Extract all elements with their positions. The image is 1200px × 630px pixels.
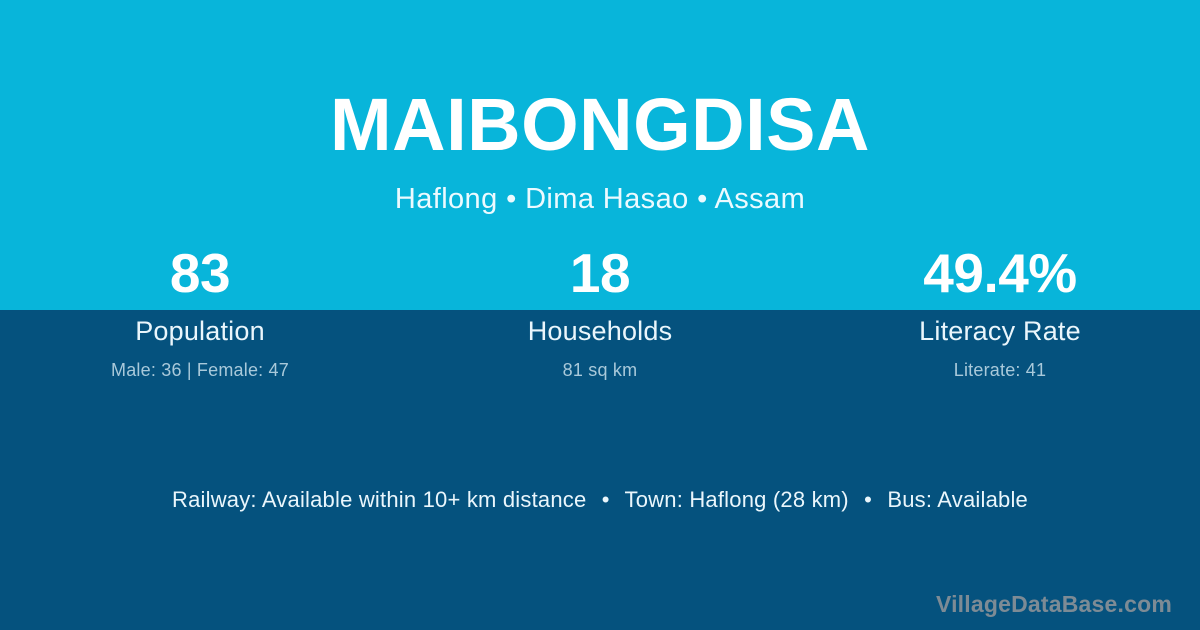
stat-literacy-rate: 49.4% Literacy Rate Literate: 41 bbox=[800, 240, 1200, 381]
info-bus: Bus: Available bbox=[887, 487, 1028, 512]
stat-households: 18 Households 81 sq km bbox=[400, 240, 800, 381]
stat-label: Literacy Rate bbox=[800, 315, 1200, 347]
stat-sublabel: Literate: 41 bbox=[800, 359, 1200, 381]
stat-label: Households bbox=[400, 315, 800, 347]
stat-population: 83 Population Male: 36 | Female: 47 bbox=[0, 240, 400, 381]
site-watermark: VillageDataBase.com bbox=[936, 590, 1172, 618]
info-town: Town: Haflong (28 km) bbox=[625, 487, 849, 512]
stat-value: 18 bbox=[400, 240, 800, 310]
stat-label: Population bbox=[0, 315, 400, 347]
amenities-info-line: Railway: Available within 10+ km distanc… bbox=[0, 486, 1200, 514]
stat-value: 49.4% bbox=[800, 240, 1200, 310]
info-separator-dot: • bbox=[593, 486, 619, 514]
stat-sublabel: 81 sq km bbox=[400, 359, 800, 381]
info-separator-dot: • bbox=[855, 486, 881, 514]
stats-row: 83 Population Male: 36 | Female: 47 18 H… bbox=[0, 240, 1200, 381]
stat-value: 83 bbox=[0, 240, 400, 310]
stat-sublabel: Male: 36 | Female: 47 bbox=[0, 359, 400, 381]
village-info-card: MAIBONGDISA Haflong • Dima Hasao • Assam… bbox=[0, 0, 1200, 630]
breadcrumb: Haflong • Dima Hasao • Assam bbox=[0, 182, 1200, 217]
page-title: MAIBONGDISA bbox=[0, 88, 1200, 162]
info-railway: Railway: Available within 10+ km distanc… bbox=[172, 487, 586, 512]
